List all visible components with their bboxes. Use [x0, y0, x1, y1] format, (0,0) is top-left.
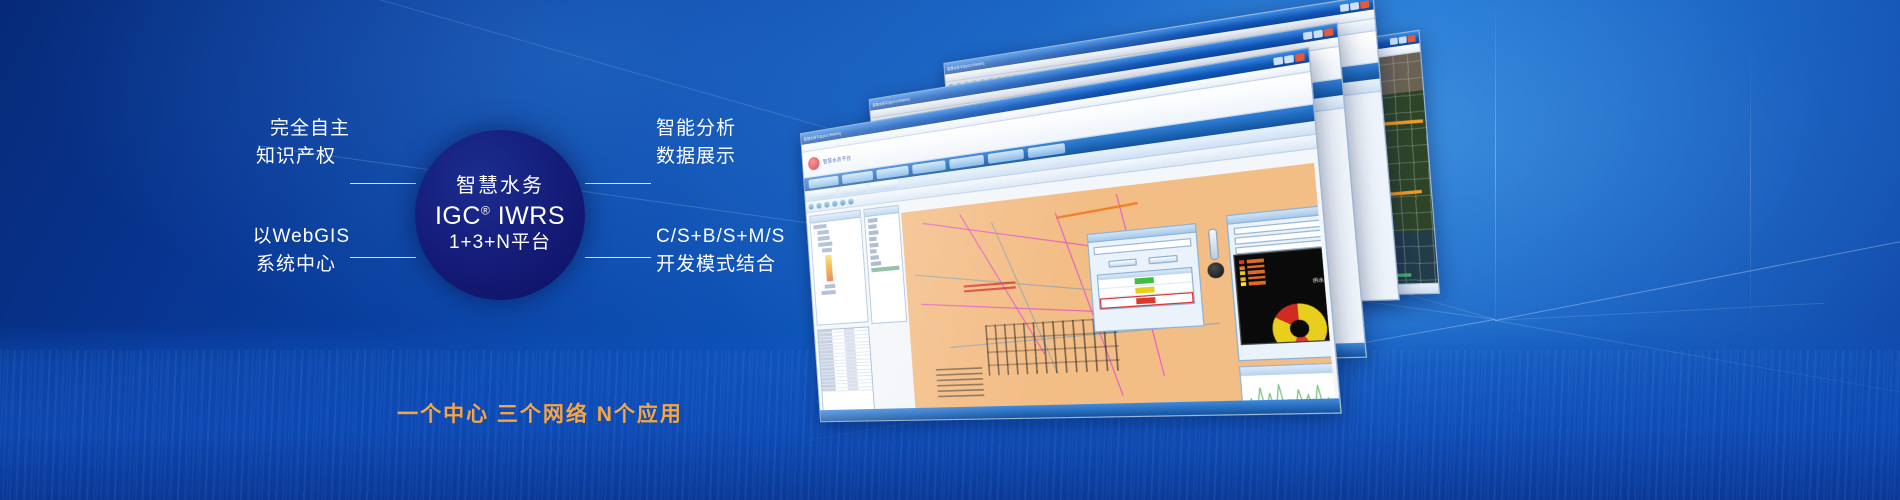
palette-item[interactable] — [869, 235, 888, 241]
minimize-icon — [1273, 56, 1283, 65]
satellite-window-controls[interactable] — [1390, 34, 1416, 44]
close-icon — [1324, 27, 1334, 36]
feature-bottom-left: 以WebGIS 系统中心 — [220, 223, 350, 278]
pump-analysis-dialog[interactable]: 供水量 532.29 — [1226, 202, 1336, 361]
gis-map-canvas[interactable]: 供水量 532.29 — [901, 163, 1336, 417]
table-row — [822, 387, 872, 392]
registered-mark-icon: ® — [481, 203, 490, 217]
pipe-analysis-reset-button[interactable] — [1148, 255, 1178, 265]
close-icon — [1407, 34, 1415, 42]
minimize-icon — [1303, 31, 1313, 40]
hub-badge: 智慧水务 IGC® IWRS 1+3+N平台 — [415, 130, 585, 300]
attribute-table-panel[interactable] — [817, 326, 875, 418]
map-label-cluster — [936, 367, 985, 401]
connector-bottom-left — [350, 257, 416, 258]
palette-item[interactable] — [869, 241, 892, 247]
maximize-icon — [1313, 29, 1323, 38]
donut-chart-widget[interactable]: 供水量 532.29 — [1233, 245, 1336, 346]
pipe-analysis-result-table[interactable] — [1097, 267, 1195, 310]
pipe-analysis-query-button[interactable] — [1108, 258, 1137, 267]
feature-bottom-left-line2: 系统中心 — [220, 251, 336, 279]
brand-logo-icon — [808, 156, 820, 171]
gis-tool-identify-icon — [848, 198, 854, 205]
minimize-icon — [1390, 37, 1398, 45]
feature-diagram: 智慧水务 IGC® IWRS 1+3+N平台 完全自主 知识产权 智能分析 数据… — [280, 105, 800, 425]
hub-platform: 1+3+N平台 — [449, 232, 551, 255]
close-icon — [1360, 0, 1370, 8]
layer-item[interactable] — [821, 288, 857, 295]
donut-chart-legend — [1239, 258, 1266, 286]
feature-top-left: 完全自主 知识产权 — [230, 115, 350, 170]
feature-bottom-left-line1: 以WebGIS — [220, 223, 350, 251]
hub-title: 智慧水务 — [456, 175, 544, 197]
palette-item[interactable] — [870, 254, 891, 260]
donut-chart-ring — [1270, 302, 1329, 345]
gis-tool-zoom-in-icon — [816, 202, 822, 209]
layer-legend-ramp — [825, 255, 833, 282]
hub-product-suffix: IWRS — [498, 202, 565, 230]
connector-top-left — [350, 183, 416, 184]
maximize-icon — [1284, 54, 1294, 63]
layer-item[interactable] — [822, 246, 847, 253]
tagline: 一个中心 三个网络 N个应用 — [280, 398, 800, 428]
gis-tool-measure-icon — [840, 199, 846, 206]
screenshot-stack: 影像地图 智慧水务平台(IGC®IWRS) — [800, 40, 1500, 440]
gis-tool-zoom-out-icon — [824, 201, 830, 208]
hub-product: IGC® IWRS — [435, 202, 565, 231]
gis-tool-select-icon — [832, 200, 838, 207]
status-badge-green — [1134, 277, 1154, 284]
palette-item[interactable] — [871, 266, 899, 273]
palette-item[interactable] — [870, 248, 887, 254]
tool-palette-panel[interactable] — [863, 205, 907, 324]
banner-stage: 智慧水务 IGC® IWRS 1+3+N平台 完全自主 知识产权 智能分析 数据… — [0, 0, 1900, 500]
pipe-analysis-dialog[interactable] — [1087, 223, 1205, 332]
legend-entry-2 — [1240, 270, 1265, 276]
legend-entry-3 — [1240, 275, 1265, 281]
map-zoom-slider[interactable] — [1208, 228, 1220, 260]
gis-tool-pan-icon — [808, 203, 814, 210]
map-pan-pad-icon[interactable] — [1207, 262, 1225, 279]
legend-entry-4 — [1241, 281, 1266, 286]
grid-line-f — [1495, 303, 1825, 321]
maximize-icon — [1350, 1, 1359, 10]
palette-item[interactable] — [869, 228, 893, 235]
tool-palette-header — [864, 206, 898, 217]
feature-top-left-line2: 知识产权 — [230, 143, 336, 171]
status-badge-yellow — [1135, 286, 1155, 293]
grid-vertical-2 — [1750, 40, 1751, 322]
minimize-icon — [1340, 3, 1349, 12]
close-icon — [1295, 52, 1305, 61]
connector-bottom-right — [585, 257, 651, 258]
feature-top-left-line1: 完全自主 — [230, 115, 350, 143]
status-badge-red — [1136, 297, 1156, 304]
layer-tree-panel[interactable] — [809, 209, 868, 325]
connector-top-right — [585, 183, 651, 184]
grid-line-a — [1495, 232, 1900, 321]
hub-product-name: IGC — [435, 202, 481, 230]
maximize-icon — [1398, 36, 1406, 44]
front-window-brand: 智慧水务平台 — [823, 154, 852, 165]
